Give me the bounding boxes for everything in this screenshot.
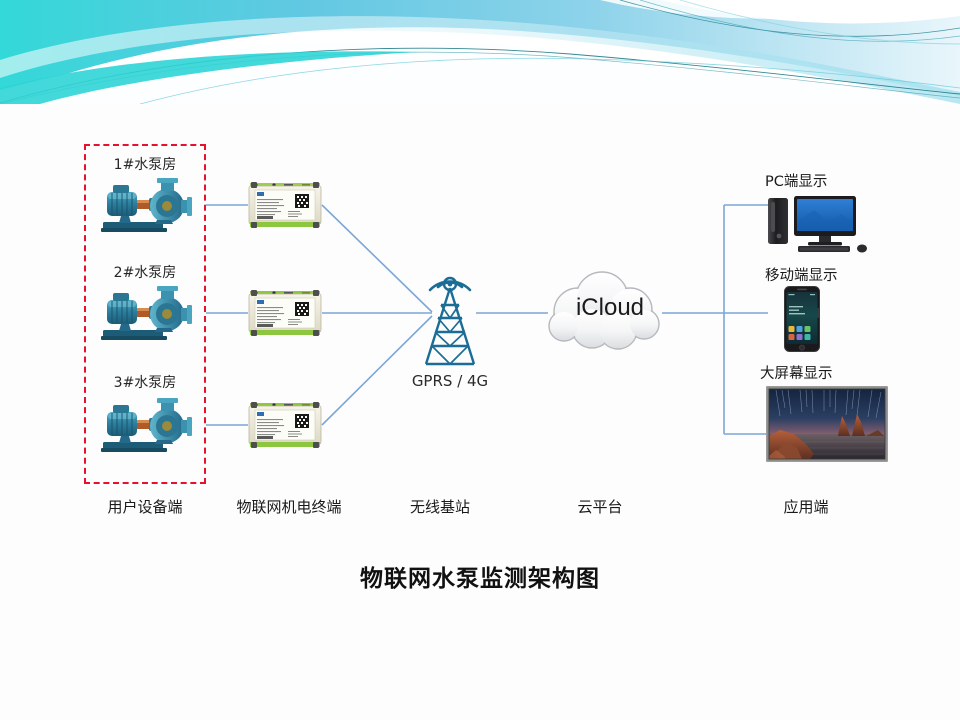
- iot-terminal-device-icon: [248, 288, 322, 338]
- iot-terminal-device-icon: [248, 400, 322, 450]
- pump-room-label-2: 2#水泵房: [84, 262, 206, 282]
- mobile-display-caption: 移动端显示: [765, 264, 838, 285]
- stage-label-cloud-platform: 云平台: [540, 496, 660, 517]
- iot-terminal-device-icon: [248, 180, 322, 230]
- stage-label-user-equipment: 用户设备端: [84, 496, 206, 517]
- cell-tower-icon: [396, 254, 504, 372]
- pump-room-label-1: 1#水泵房: [84, 154, 206, 174]
- header-banner: [0, 0, 960, 104]
- stage-label-application: 应用端: [746, 496, 866, 517]
- slide-content-area: 1#水泵房: [0, 104, 960, 720]
- banner-graphic: [0, 0, 960, 104]
- cloud-label: iCloud: [530, 294, 690, 322]
- page-title: 物联网水泵监测架构图: [0, 559, 960, 593]
- large-screen-caption: 大屏幕显示: [760, 362, 833, 383]
- water-pump-icon: [97, 176, 193, 238]
- large-screen-display-icon: [766, 386, 888, 462]
- pump-room-label-3: 3#水泵房: [84, 372, 206, 392]
- smartphone-icon: [784, 286, 820, 352]
- water-pump-icon: [97, 284, 193, 346]
- desktop-computer-icon: [766, 192, 874, 254]
- stage-label-row: 用户设备端 物联网机电终端 无线基站 云平台 应用端: [0, 496, 960, 524]
- pc-display-caption: PC端显示: [765, 170, 827, 191]
- tower-label: GPRS / 4G: [380, 372, 520, 390]
- architecture-diagram: 1#水泵房: [0, 104, 960, 720]
- water-pump-icon: [97, 396, 193, 458]
- stage-label-wireless-base-station: 无线基站: [380, 496, 500, 517]
- stage-label-iot-terminal: 物联网机电终端: [214, 496, 364, 517]
